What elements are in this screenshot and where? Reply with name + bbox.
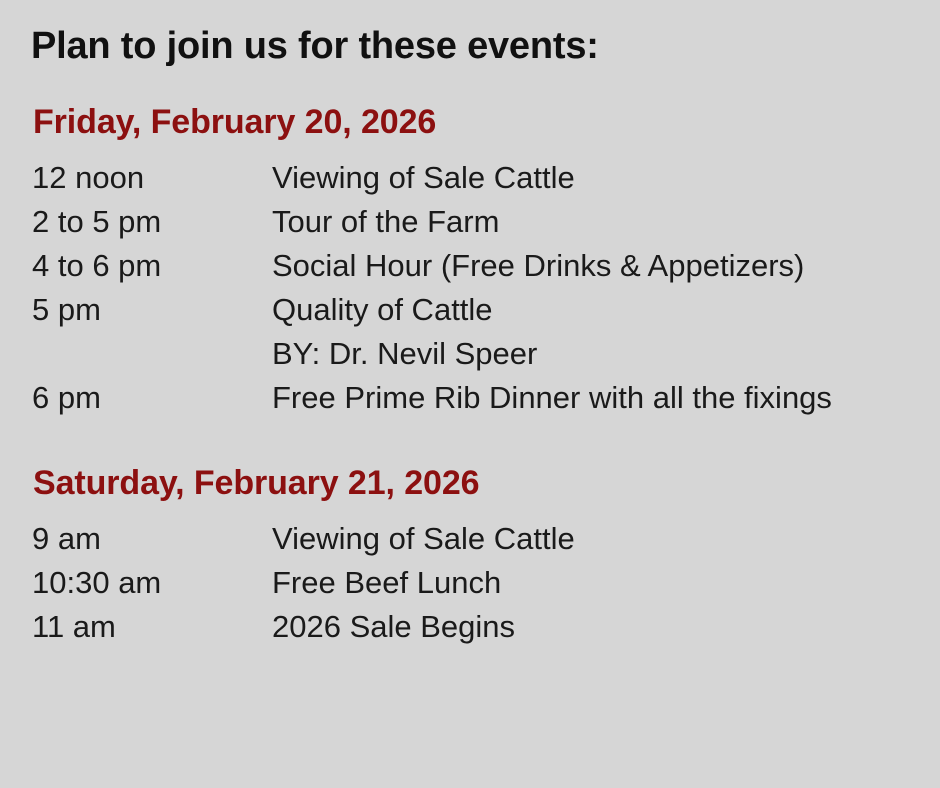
- schedule-row: 12 noon Viewing of Sale Cattle: [31, 156, 832, 200]
- schedule-description: Social Hour (Free Drinks & Appetizers): [272, 244, 832, 288]
- event-schedule-page: Plan to join us for these events: Friday…: [0, 0, 940, 788]
- schedule-time: 4 to 6 pm: [31, 244, 272, 288]
- schedule-time: 10:30 am: [31, 561, 272, 605]
- schedule-description: 2026 Sale Begins: [272, 605, 575, 649]
- day-heading: Friday, February 20, 2026: [33, 102, 921, 142]
- schedule-description: BY: Dr. Nevil Speer: [272, 332, 832, 376]
- schedule-row: 10:30 am Free Beef Lunch: [31, 561, 575, 605]
- schedule-description: Viewing of Sale Cattle: [272, 517, 575, 561]
- day-block-friday: Friday, February 20, 2026 12 noon Viewin…: [31, 102, 921, 420]
- schedule-description: Tour of the Farm: [272, 200, 832, 244]
- schedule-time: 12 noon: [31, 156, 272, 200]
- schedule-table-friday: 12 noon Viewing of Sale Cattle 2 to 5 pm…: [31, 156, 832, 420]
- schedule-row-continuation: BY: Dr. Nevil Speer: [31, 332, 832, 376]
- schedule-time: 9 am: [31, 517, 272, 561]
- day-heading: Saturday, February 21, 2026: [33, 463, 921, 503]
- schedule-row: 5 pm Quality of Cattle: [31, 288, 832, 332]
- schedule-description: Free Prime Rib Dinner with all the fixin…: [272, 376, 832, 420]
- schedule-time: [31, 332, 272, 376]
- schedule-row: 9 am Viewing of Sale Cattle: [31, 517, 575, 561]
- schedule-row: 6 pm Free Prime Rib Dinner with all the …: [31, 376, 832, 420]
- schedule-description: Quality of Cattle: [272, 288, 832, 332]
- schedule-row: 4 to 6 pm Social Hour (Free Drinks & App…: [31, 244, 832, 288]
- page-title: Plan to join us for these events:: [31, 26, 599, 68]
- schedule-time: 5 pm: [31, 288, 272, 332]
- schedule-time: 11 am: [31, 605, 272, 649]
- schedule-table-saturday: 9 am Viewing of Sale Cattle 10:30 am Fre…: [31, 517, 575, 649]
- schedule-time: 6 pm: [31, 376, 272, 420]
- day-block-saturday: Saturday, February 21, 2026 9 am Viewing…: [31, 463, 921, 649]
- schedule-time: 2 to 5 pm: [31, 200, 272, 244]
- schedule-description: Free Beef Lunch: [272, 561, 575, 605]
- schedule-row: 2 to 5 pm Tour of the Farm: [31, 200, 832, 244]
- schedule-row: 11 am 2026 Sale Begins: [31, 605, 575, 649]
- schedule-description: Viewing of Sale Cattle: [272, 156, 832, 200]
